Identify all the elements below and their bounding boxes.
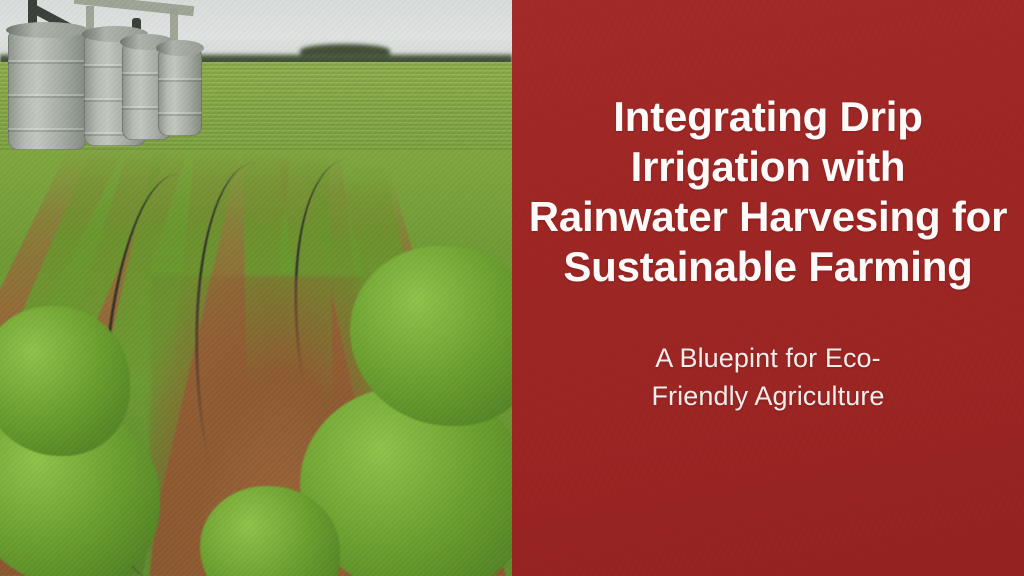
rainwater-tank [8, 30, 86, 150]
slide-title: Integrating Drip Irrigation with Rainwat… [518, 92, 1018, 292]
tank-ribs [8, 30, 86, 150]
title-line-3: Rainwater Harvesing for [529, 193, 1008, 240]
subtitle-line-2: Friendly Agriculture [651, 381, 884, 411]
tank-ribs [158, 48, 202, 136]
title-line-4: Sustainable Farming [563, 243, 972, 290]
rainwater-tank-group [0, 0, 210, 175]
field-photo [0, 0, 512, 576]
rainwater-tank [158, 48, 202, 136]
slide-subtitle: A Bluepint for Eco- Friendly Agriculture [558, 339, 978, 415]
subtitle-line-1: A Bluepint for Eco- [655, 343, 881, 373]
title-panel: Integrating Drip Irrigation with Rainwat… [512, 0, 1024, 576]
title-slide: Integrating Drip Irrigation with Rainwat… [0, 0, 1024, 576]
title-line-2: Irrigation with [631, 143, 906, 190]
title-line-1: Integrating Drip [613, 93, 922, 140]
support-frame [170, 8, 178, 42]
